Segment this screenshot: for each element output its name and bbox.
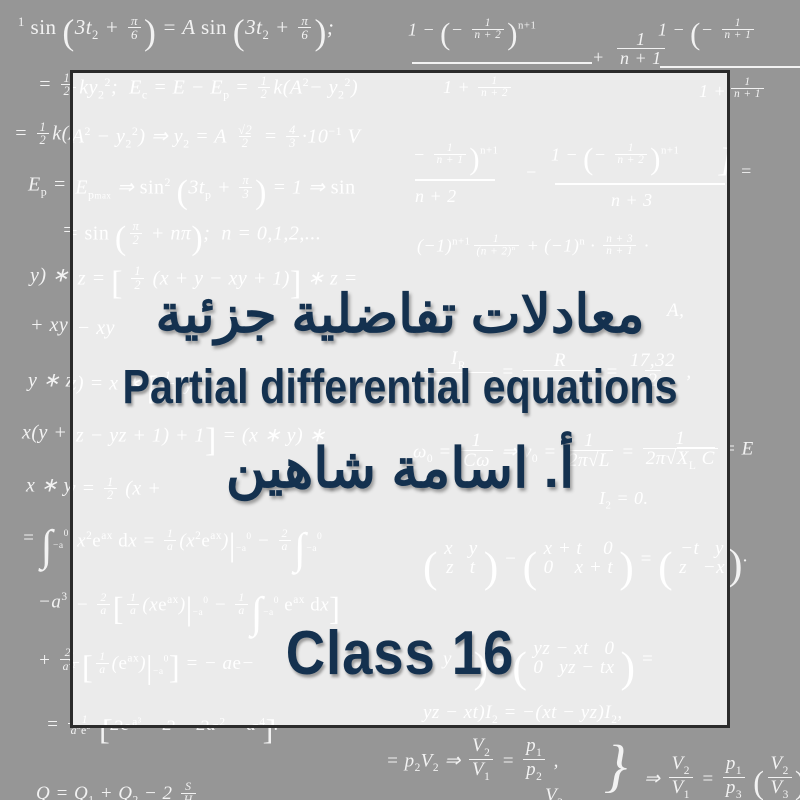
formula-line: + xyxy=(592,48,605,67)
formula-line: I2 = 0. xyxy=(599,489,649,512)
formula-line: = p2V2 ⇒ V2V1 = p1p2 , xyxy=(386,738,559,786)
formula-line: + 2a2[1a(eax)|−a0] = − ae− xyxy=(70,651,255,685)
content-panel: = 12ky22; Ec = E − Ep = 12k(A2− y22) = 1… xyxy=(70,70,730,728)
formula-line: = sin (π2 + nπ); n = 0,1,2,... xyxy=(70,221,321,257)
formula-line: y ∗ z) = x ∗ [12(y + z xyxy=(70,371,227,407)
formula-line: = 12ky22; Ec = E − Ep = 12k(A2− y22) xyxy=(70,76,358,102)
formula-line xyxy=(415,179,495,198)
formula-line: + xy − xy xyxy=(70,318,115,339)
formula-line: ω0 = 1Cω ⇒ ν0 = 12π√L = 12π√XL C xyxy=(413,431,721,475)
formula-line: y t) = (yz − xt 00 yz − tx) = xyxy=(443,641,654,691)
formula-line: Ep = Epmax ⇒ sin2 (3tp + π3) = 1 ⇒ sin xyxy=(70,175,356,211)
formula-line: 1n + 1 xyxy=(614,32,668,70)
formula-line xyxy=(555,183,725,202)
formula-line: 1 + 1n + 1 xyxy=(699,81,730,105)
formula-line: Q = Q1 + Q2 − 2 SH xyxy=(36,782,199,800)
formula-line: − xyxy=(525,163,538,182)
formula-line: ⇒ V2V1 = p1p3 (V2V3)γ xyxy=(644,756,800,800)
formula-line: (x yz t) − (x + t 00 x + t) = (−t yz −x)… xyxy=(423,541,730,591)
formula-line: (−1)n+11(n + 2)n + (−1)n · n + 3n + 1 · xyxy=(417,235,649,259)
formula-line: n + 2 xyxy=(415,187,457,206)
formula-line: − 1n + 1)n+1 xyxy=(413,143,499,175)
formula-line: x(y + z − yz + 1) + 1] = (x ∗ y) ∗ xyxy=(70,423,326,459)
panel-formula-wallpaper: = 12ky22; Ec = E − Ep = 12k(A2− y22) = 1… xyxy=(70,70,730,728)
formula-line: 1 − (− 1n + 2)n+1 xyxy=(408,18,536,50)
lecture-title-slide: 1 sin (3t2 + π6) = A sin (3t2 + π6); = 1… xyxy=(0,0,800,800)
formula-line: 1 − (− 1n + 1 xyxy=(658,18,757,50)
formula-line: = xyxy=(740,162,753,181)
formula-line: = p1V1γ ⇒ p2 = p2(V3V)γ xyxy=(386,788,586,800)
formula-line: y) ∗ z = [ 12 (x + y − xy + 1)] ∗ z = xyxy=(70,266,358,302)
formula-line: } xyxy=(604,736,628,797)
formula-line: −a3 − 2a[1a(xeax)|−a0 − 1a∫−a0 eax dx] xyxy=(70,591,340,637)
formula-line: ] xyxy=(719,143,730,179)
formula-line: yz − xt)I2 = −(xt − yz)I2, xyxy=(423,703,623,727)
formula-line: n + 3 xyxy=(611,191,653,210)
formula-line: 1 − (− 1n + 2)n+1 xyxy=(551,143,679,175)
formula-line: IR = R = 17,322 , xyxy=(421,351,692,395)
formula-line: = ∫−a0 x2eax dx = 1a(x2eax)|−a0 − 2a∫−a0 xyxy=(70,527,322,573)
formula-line: x ∗ y = 12 (x + xyxy=(70,477,161,503)
formula-line: A, xyxy=(667,301,684,321)
formula-line: = 1a3ea³[2ea³ − 2 − 2a2 − a4]. xyxy=(70,715,282,728)
formula-line: = 12k(A2 − y22) ⇒ y2 = A √22 = 43·10−1 V xyxy=(70,125,360,151)
formula-line: 1 + 1n + 2 xyxy=(443,77,514,101)
formula-line: 1 sin (3t2 + π6) = A sin (3t2 + π6); xyxy=(18,14,334,51)
